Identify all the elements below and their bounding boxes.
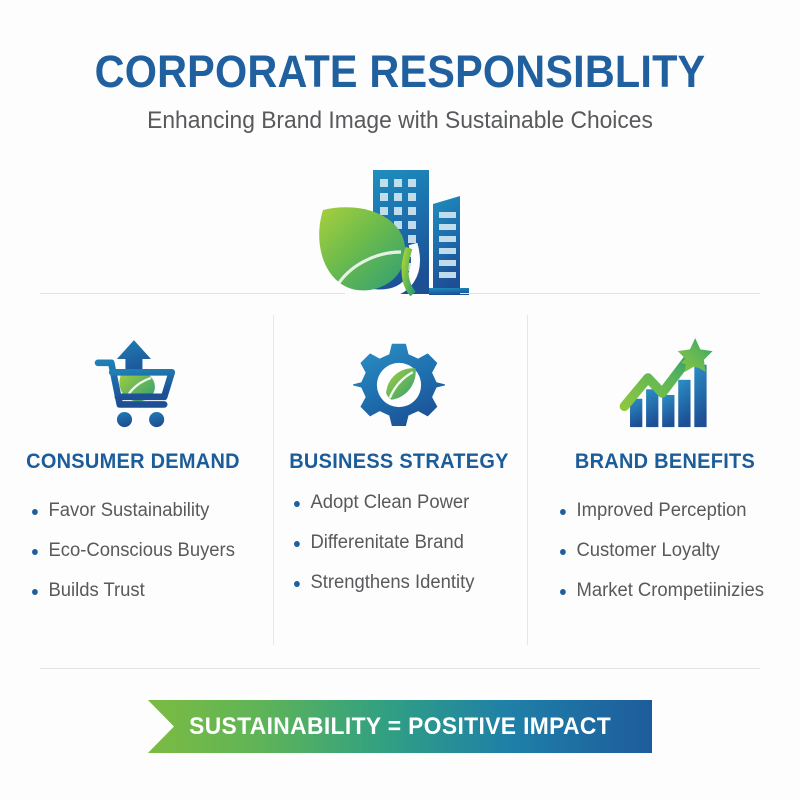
list-item: Eco-Conscious Buyers [32,540,249,562]
list-item: Improved Perception [560,500,781,522]
list-item: Favor Sustainability [32,500,249,522]
list-item: Builds Trust [32,580,249,602]
list-item: Adopt Clean Power [294,492,515,514]
shopping-cart-leaf-icon [10,330,256,440]
columns-section: CONSUMER DEMAND Favor Sustainability Eco… [0,330,800,620]
growth-chart-star-icon [542,330,788,440]
column-brand-benefits: BRAND BENEFITS Improved Perception Custo… [532,330,798,620]
list-item: Market Crompetiinizies [560,580,781,602]
column-list: Adopt Clean Power Differenitate Brand St… [276,492,522,594]
page-title: CORPORATE RESPONSIBLITY [32,46,768,98]
column-consumer-demand: CONSUMER DEMAND Favor Sustainability Eco… [0,330,266,620]
list-item: Customer Loyalty [560,540,781,562]
list-item: Differenitate Brand [294,532,515,554]
column-business-strategy: BUSINESS STRATEGY Adopt Clean Power Diff… [266,330,532,620]
column-list: Favor Sustainability Eco-Conscious Buyer… [10,500,256,602]
divider-top-left [40,293,345,294]
gear-leaf-icon [276,330,522,440]
divider-bottom [40,668,760,669]
page-subtitle: Enhancing Brand Image with Sustainable C… [20,107,780,135]
list-item: Strengthens Identity [294,572,515,594]
column-list: Improved Perception Customer Loyalty Mar… [542,500,788,602]
header: CORPORATE RESPONSIBLITY Enhancing Brand … [0,46,800,135]
column-heading: CONSUMER DEMAND [16,450,250,474]
infographic-page: CORPORATE RESPONSIBLITY Enhancing Brand … [0,0,800,800]
banner-ribbon-shape: SUSTAINABILITY = POSITIVE IMPACT [148,700,652,753]
divider-top-right [460,293,760,294]
column-heading: BRAND BENEFITS [548,450,782,474]
column-heading: BUSINESS STRATEGY [282,450,516,474]
banner-text: SUSTAINABILITY = POSITIVE IMPACT [189,713,611,741]
sustainability-banner: SUSTAINABILITY = POSITIVE IMPACT [148,700,652,753]
leaf-and-buildings-icon [305,160,495,305]
